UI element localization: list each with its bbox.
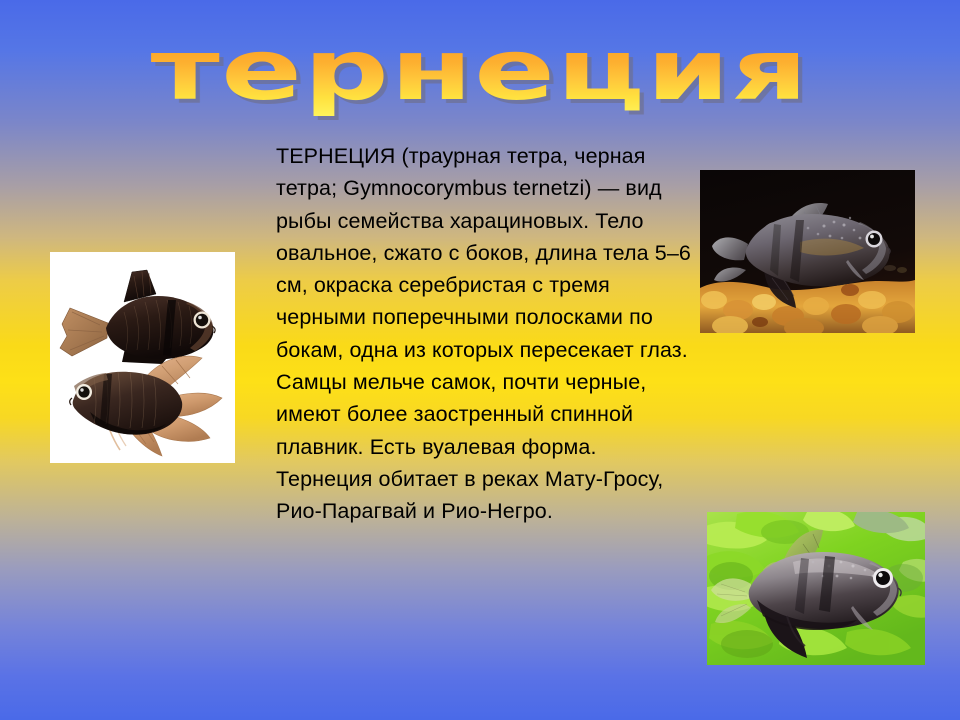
two-black-tetras-illustration bbox=[50, 252, 235, 463]
slide-title: тернеция bbox=[0, 24, 960, 116]
fish-photo-two-black-tetras bbox=[50, 252, 235, 463]
title-wordart-text: тернеция bbox=[151, 24, 810, 116]
presentation-slide: тернеция ТЕРНЕЦИЯ (траурная тетра, черна… bbox=[0, 0, 960, 720]
tetra-green-plants-illustration bbox=[707, 512, 925, 665]
tetra-dark-aquarium-illustration bbox=[700, 170, 915, 333]
slide-body-text: ТЕРНЕЦИЯ (траурная тетра, черная тетра; … bbox=[276, 140, 696, 528]
fish-photo-dark-aquarium bbox=[700, 170, 915, 333]
fish-photo-green-plants bbox=[707, 512, 925, 665]
